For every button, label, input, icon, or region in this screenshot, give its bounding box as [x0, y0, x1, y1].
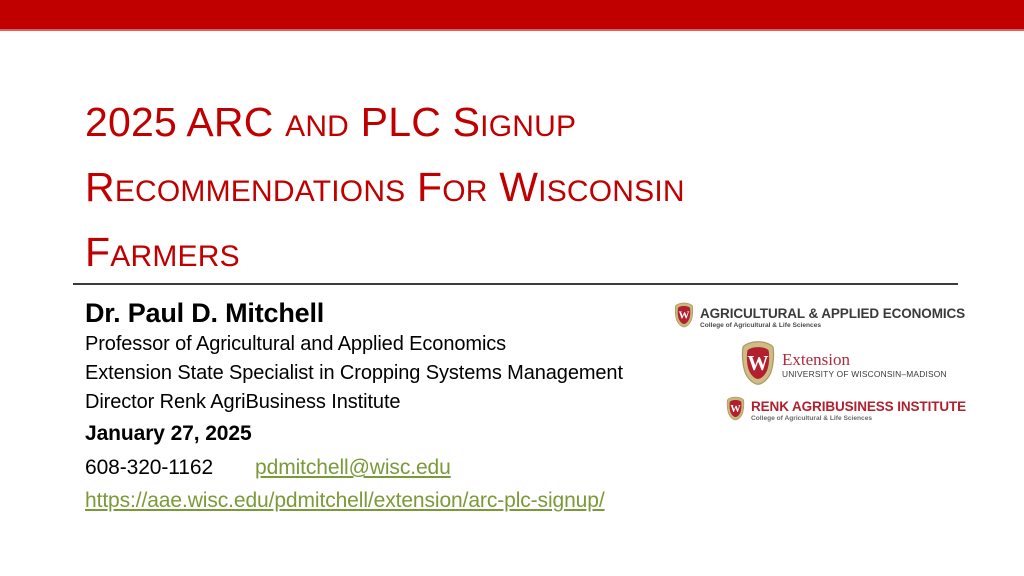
- slide-title: 2025 ARC AND PLC SIGNUP RECOMMENDATIONS …: [85, 92, 875, 287]
- presenter-info: Dr. Paul D. Mitchell Professor of Agricu…: [85, 296, 745, 517]
- presenter-name: Dr. Paul D. Mitchell: [85, 296, 745, 330]
- title-run: OR: [442, 175, 487, 208]
- title-run: ECOMMENDATIONS: [115, 175, 406, 208]
- title-run: S: [453, 99, 481, 145]
- website-row: https://aae.wisc.edu/pdmitchell/extensio…: [85, 485, 745, 517]
- title-run: IGNUP: [480, 110, 576, 143]
- top-banner-edge: [0, 29, 1024, 31]
- logo-renk-agribusiness-institute: W RENK AGRIBUSINESS INSTITUTE College of…: [726, 396, 966, 426]
- presenter-website-link[interactable]: https://aae.wisc.edu/pdmitchell/extensio…: [85, 489, 605, 512]
- top-banner: [0, 0, 1024, 29]
- title-run: F: [417, 164, 442, 210]
- title-line-3: FARMERS: [85, 222, 875, 287]
- title-run: [488, 164, 500, 210]
- presenter-email-link[interactable]: pdmitchell@wisc.edu: [255, 456, 451, 479]
- presenter-role-1: Professor of Agricultural and Applied Ec…: [85, 330, 745, 359]
- title-run: [441, 99, 453, 145]
- logo-sub-text: UNIVERSITY OF WISCONSIN–MADISON: [782, 369, 947, 380]
- logo-stack: W AGRICULTURAL & APPLIED ECONOMICS Colle…: [668, 298, 968, 434]
- title-divider-rule: [73, 283, 958, 285]
- logo-main-text: RENK AGRIBUSINESS INSTITUTE: [751, 399, 966, 414]
- presenter-phone: 608-320-1162: [85, 456, 213, 479]
- title-run: [349, 99, 361, 145]
- title-run: R: [85, 164, 115, 210]
- logo-main-text: AGRICULTURAL & APPLIED ECONOMICS: [700, 306, 965, 321]
- title-run: ARMERS: [110, 240, 240, 273]
- title-run: [274, 99, 286, 145]
- title-run: ISCONSIN: [538, 175, 685, 208]
- logo-text-block: AGRICULTURAL & APPLIED ECONOMICS College…: [700, 306, 965, 330]
- svg-text:W: W: [679, 310, 690, 322]
- logo-agricultural-applied-economics: W AGRICULTURAL & APPLIED ECONOMICS Colle…: [674, 302, 965, 333]
- title-run: [405, 164, 417, 210]
- title-run: ARC: [186, 99, 273, 145]
- title-run: AND: [285, 110, 349, 143]
- presenter-role-3: Director Renk AgriBusiness Institute: [85, 388, 745, 417]
- logo-text-block: RENK AGRIBUSINESS INSTITUTE College of A…: [751, 399, 966, 423]
- logo-main-text: Extension: [782, 351, 947, 369]
- title-run: 2025: [85, 99, 186, 145]
- title-line-2: RECOMMENDATIONS FOR WISCONSIN: [85, 157, 875, 222]
- title-run: PLC: [361, 99, 441, 145]
- svg-text:W: W: [730, 404, 741, 415]
- title-run: W: [499, 164, 538, 210]
- logo-sub-text: College of Agricultural & Life Sciences: [700, 321, 965, 330]
- logo-text-block: Extension UNIVERSITY OF WISCONSIN–MADISO…: [782, 351, 947, 380]
- logo-uw-extension: W Extension UNIVERSITY OF WISCONSIN–MADI…: [740, 340, 947, 391]
- presentation-slide: 2025 ARC AND PLC SIGNUP RECOMMENDATIONS …: [0, 0, 1024, 576]
- svg-text:W: W: [747, 351, 768, 375]
- presentation-date: January 27, 2025: [85, 417, 745, 451]
- logo-sub-text: College of Agricultural & Life Sciences: [751, 414, 966, 423]
- uw-crest-icon: W: [726, 396, 745, 426]
- contact-row: 608-320-1162pdmitchell@wisc.edu: [85, 451, 745, 485]
- uw-crest-icon: W: [674, 302, 694, 333]
- title-run: F: [85, 229, 110, 275]
- title-line-1: 2025 ARC AND PLC SIGNUP: [85, 92, 875, 157]
- presenter-role-2: Extension State Specialist in Cropping S…: [85, 359, 745, 388]
- uw-crest-icon: W: [740, 340, 776, 391]
